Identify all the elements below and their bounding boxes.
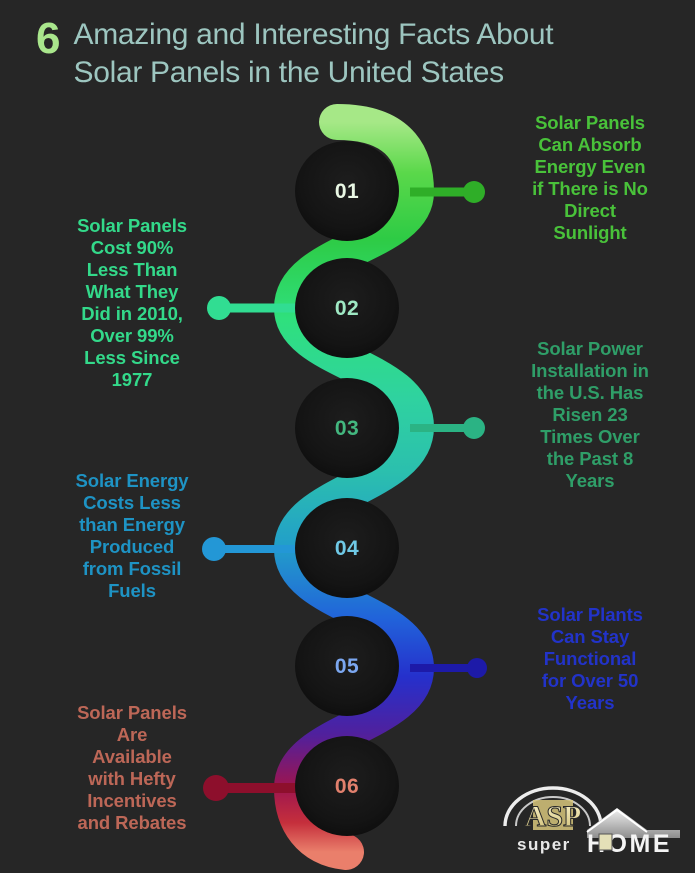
fact-05-line-3: Functional — [490, 648, 690, 670]
fact-02-line-8: 1977 — [32, 369, 232, 391]
fact-03-line-2: Installation in — [490, 360, 690, 382]
fact-text-04: Solar Energy Costs Less than Energy Prod… — [32, 470, 232, 602]
fact-01-line-3: Energy Even — [490, 156, 690, 178]
fact-01-line-1: Solar Panels — [490, 112, 690, 134]
fact-02-line-6: Over 99% — [32, 325, 232, 347]
fact-02-line-7: Less Since — [32, 347, 232, 369]
fact-05-line-1: Solar Plants — [490, 604, 690, 626]
logo-window-icon — [599, 834, 612, 850]
fact-text-06: Solar Panels Are Available with Hefty In… — [32, 702, 232, 834]
fact-05-line-4: for Over 50 — [490, 670, 690, 692]
fact-01-line-5: Direct — [490, 200, 690, 222]
fact-01-line-6: Sunlight — [490, 222, 690, 244]
fact-05-line-2: Can Stay — [490, 626, 690, 648]
fact-05-line-5: Years — [490, 692, 690, 714]
fact-06-line-5: Incentives — [32, 790, 232, 812]
fact-01-line-2: Can Absorb — [490, 134, 690, 156]
logo-super-text: super — [517, 835, 571, 854]
fact-text-02: Solar Panels Cost 90% Less Than What The… — [32, 215, 232, 391]
fact-text-05: Solar Plants Can Stay Functional for Ove… — [490, 604, 690, 714]
fact-06-line-3: Available — [32, 746, 232, 768]
fact-02-line-2: Cost 90% — [32, 237, 232, 259]
fact-06-line-2: Are — [32, 724, 232, 746]
fact-06-line-4: with Hefty — [32, 768, 232, 790]
node-circle-01[interactable] — [295, 141, 399, 241]
node-circle-05[interactable] — [295, 616, 399, 716]
brand-logo[interactable]: ASP super HOME — [495, 770, 680, 862]
fact-02-line-4: What They — [32, 281, 232, 303]
fact-04-line-1: Solar Energy — [32, 470, 232, 492]
node-circle-06[interactable] — [295, 736, 399, 836]
fact-03-line-3: the U.S. Has — [490, 382, 690, 404]
node-circle-02[interactable] — [295, 258, 399, 358]
fact-04-line-4: Produced — [32, 536, 232, 558]
fact-03-line-6: the Past 8 — [490, 448, 690, 470]
fact-04-line-2: Costs Less — [32, 492, 232, 514]
fact-04-line-5: from Fossil — [32, 558, 232, 580]
fact-04-line-6: Fuels — [32, 580, 232, 602]
fact-03-line-7: Years — [490, 470, 690, 492]
fact-06-line-6: and Rebates — [32, 812, 232, 834]
fact-01-line-4: if There is No — [490, 178, 690, 200]
fact-text-01: Solar Panels Can Absorb Energy Even if T… — [490, 112, 690, 244]
fact-06-line-1: Solar Panels — [32, 702, 232, 724]
fact-02-line-5: Did in 2010, — [32, 303, 232, 325]
fact-03-line-5: Times Over — [490, 426, 690, 448]
fact-02-line-1: Solar Panels — [32, 215, 232, 237]
infographic-page: 6 Amazing and Interesting Facts About So… — [0, 0, 695, 873]
logo-asp-text: ASP — [525, 800, 582, 833]
fact-03-line-4: Risen 23 — [490, 404, 690, 426]
node-circle-04[interactable] — [295, 498, 399, 598]
fact-02-line-3: Less Than — [32, 259, 232, 281]
fact-03-line-1: Solar Power — [490, 338, 690, 360]
fact-04-line-3: than Energy — [32, 514, 232, 536]
node-circle-03[interactable] — [295, 378, 399, 478]
fact-text-03: Solar Power Installation in the U.S. Has… — [490, 338, 690, 492]
